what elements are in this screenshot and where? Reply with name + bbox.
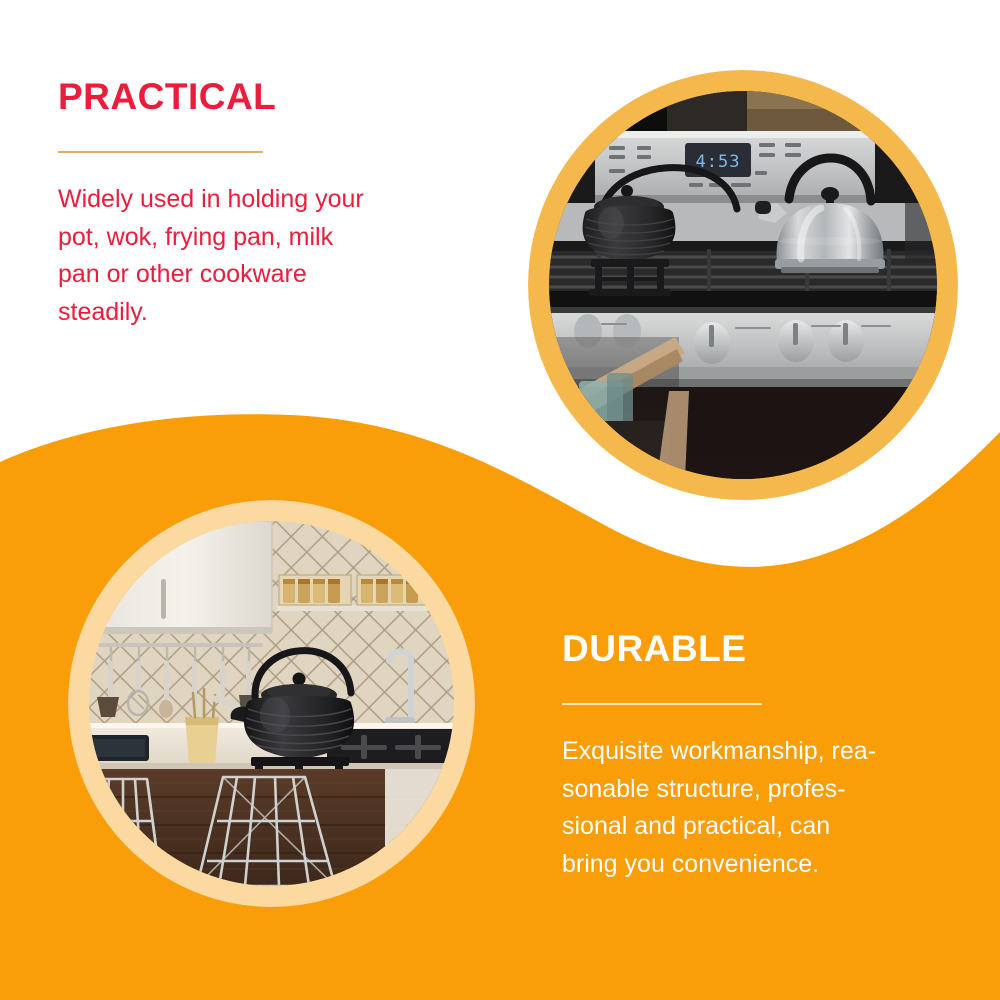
durable-body-text: Exquisite workmanship, rea- sonable stru… xyxy=(562,705,952,883)
kitchen-photo xyxy=(89,521,454,886)
durable-line-4: bring you convenience. xyxy=(562,846,952,884)
durable-heading: DURABLE xyxy=(562,630,962,667)
stove-photo: 4:53 xyxy=(549,91,937,479)
practical-line-1: Widely used in holding your xyxy=(58,181,458,219)
stove-photo-medallion: 4:53 xyxy=(528,70,958,500)
practical-heading: PRACTICAL xyxy=(58,78,478,115)
practical-line-3: pan or other cookware xyxy=(58,256,458,294)
practical-body-text: Widely used in holding your pot, wok, fr… xyxy=(58,153,458,331)
infographic-canvas: 4:53 xyxy=(0,0,1000,1000)
practical-line-2: pot, wok, frying pan, milk xyxy=(58,219,458,257)
durable-line-2: sonable structure, profes- xyxy=(562,771,952,809)
kitchen-photo-medallion xyxy=(68,500,475,907)
durable-line-1: Exquisite workmanship, rea- xyxy=(562,733,952,771)
durable-feature-block: DURABLE Exquisite workmanship, rea- sona… xyxy=(562,630,962,883)
practical-line-4: steadily. xyxy=(58,294,458,332)
practical-feature-block: PRACTICAL Widely used in holding your po… xyxy=(58,78,478,331)
durable-line-3: sional and practical, can xyxy=(562,808,952,846)
